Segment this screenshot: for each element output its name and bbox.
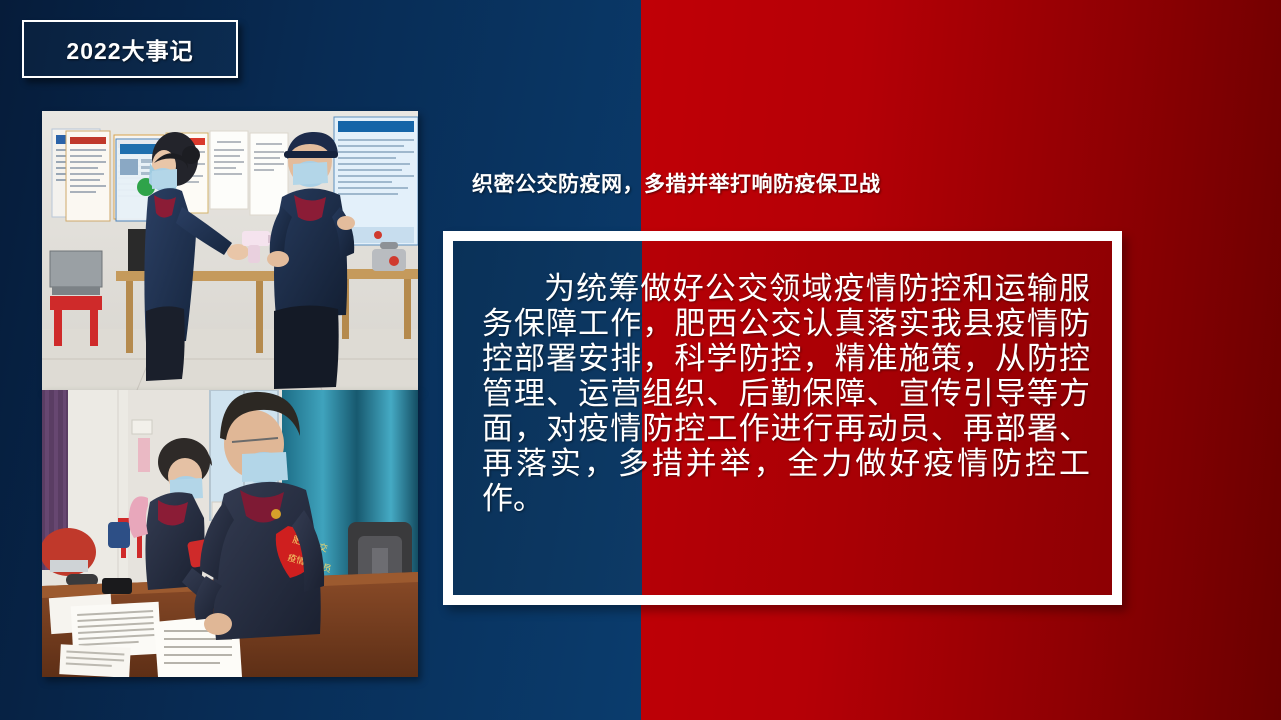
- photo-temperature-check: [42, 111, 418, 390]
- body-frame: 为统筹做好公交领域疫情防控和运输服务保障工作，肥西公交认真落实我县疫情防控部署安…: [443, 231, 1122, 605]
- headline: 织密公交防疫网，多措并举打响防疫保卫战: [472, 168, 1112, 198]
- title-badge: 2022大事记: [22, 20, 238, 78]
- body-frame-inner: 为统筹做好公交领域疫情防控和运输服务保障工作，肥西公交认真落实我县疫情防控部署安…: [452, 240, 1113, 596]
- photo-temperature-check-image: [42, 111, 418, 390]
- title-badge-label: 2022大事记: [66, 32, 193, 66]
- slide-canvas: 2022大事记: [0, 0, 1281, 720]
- body-paragraph: 为统筹做好公交领域疫情防控和运输服务保障工作，肥西公交认真落实我县疫情防控部署安…: [453, 241, 1112, 595]
- photo-document-review: 肥西公交 疫情防控员: [42, 390, 418, 677]
- photo-document-review-image: 肥西公交 疫情防控员: [42, 390, 418, 677]
